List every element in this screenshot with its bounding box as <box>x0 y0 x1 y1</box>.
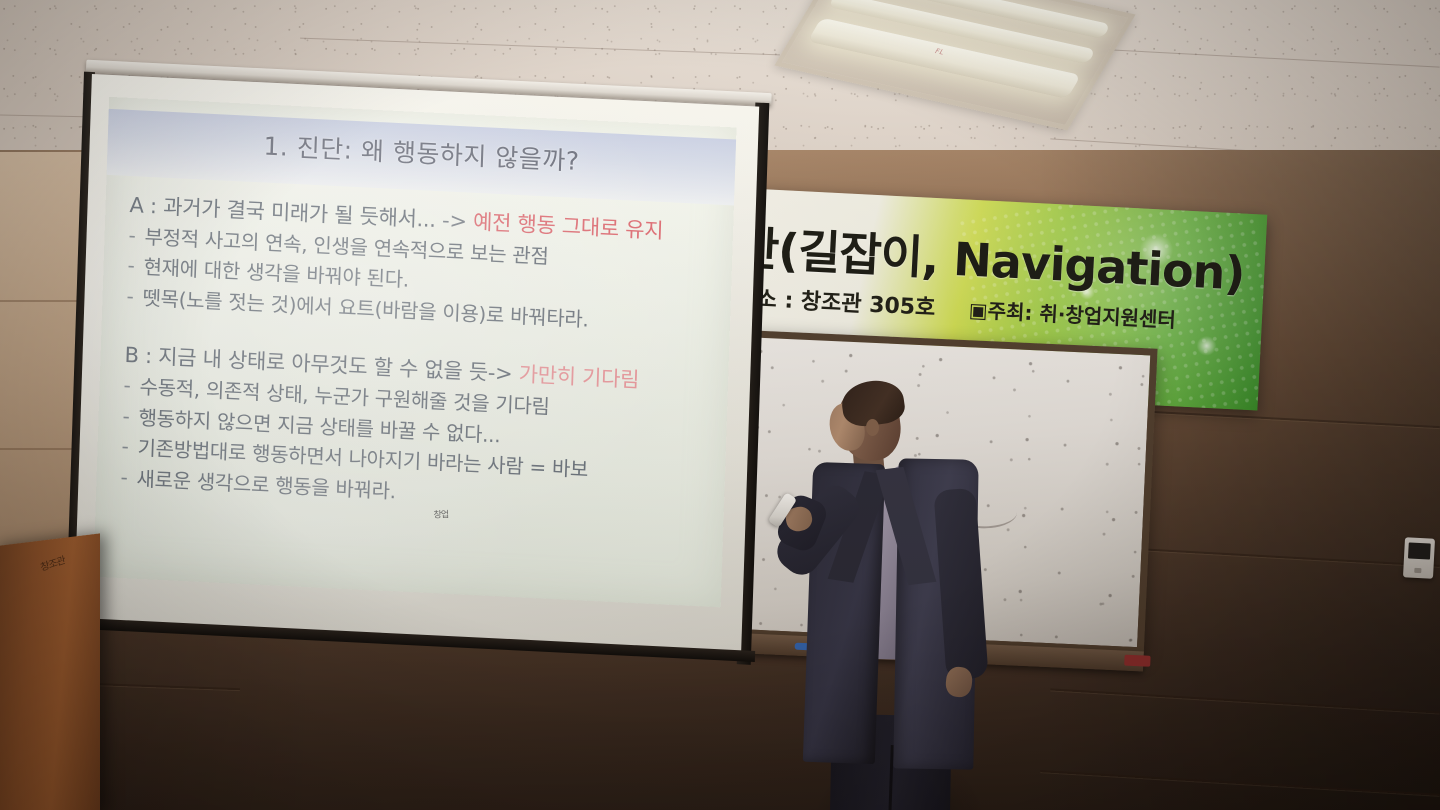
projection-screen: 1. 진단: 왜 행동하지 않을까? A : 과거가 결국 미래가 될 듯해서.… <box>74 72 764 657</box>
wall-control-button[interactable] <box>1414 568 1421 573</box>
presenter <box>780 385 1020 810</box>
slide-lead-a-highlight: 예전 행동 그대로 유지 <box>473 210 664 243</box>
screen-surface: 1. 진단: 왜 행동하지 않을까? A : 과거가 결국 미래가 될 듯해서.… <box>74 74 759 652</box>
slide-ink-annotation: 창업 <box>433 507 448 520</box>
wall-control-panel[interactable] <box>1403 537 1435 579</box>
slide-lead-a-arrow: -> <box>442 208 467 233</box>
presenter-ear <box>866 419 879 436</box>
slide-lead-b-highlight: 가만히 기다림 <box>518 362 639 392</box>
wall-control-display <box>1408 542 1431 559</box>
slide-lead-b-label: B : <box>124 343 152 368</box>
slide-body: A : 과거가 결국 미래가 될 듯해서... -> 예전 행동 그대로 유지 … <box>120 190 719 524</box>
podium-label: 창조관 <box>39 552 66 574</box>
podium: 창조관 <box>0 533 100 810</box>
banner-location: 장소 : 창조관 305호 <box>736 286 936 321</box>
slide-lead-a-label: A : <box>129 193 157 218</box>
lecture-room-scene: FL 안(길잡이, Navigation) 장소 : 창조관 305호 ▣주최:… <box>0 0 1440 810</box>
slide-section-b: B : 지금 내 상태로 아무것도 할 수 없을 듯-> 가만히 기다림 수동적… <box>120 340 714 521</box>
projected-slide: 1. 진단: 왜 행동하지 않을까? A : 과거가 결국 미래가 될 듯해서.… <box>93 97 736 607</box>
whiteboard-eraser <box>1124 655 1150 667</box>
